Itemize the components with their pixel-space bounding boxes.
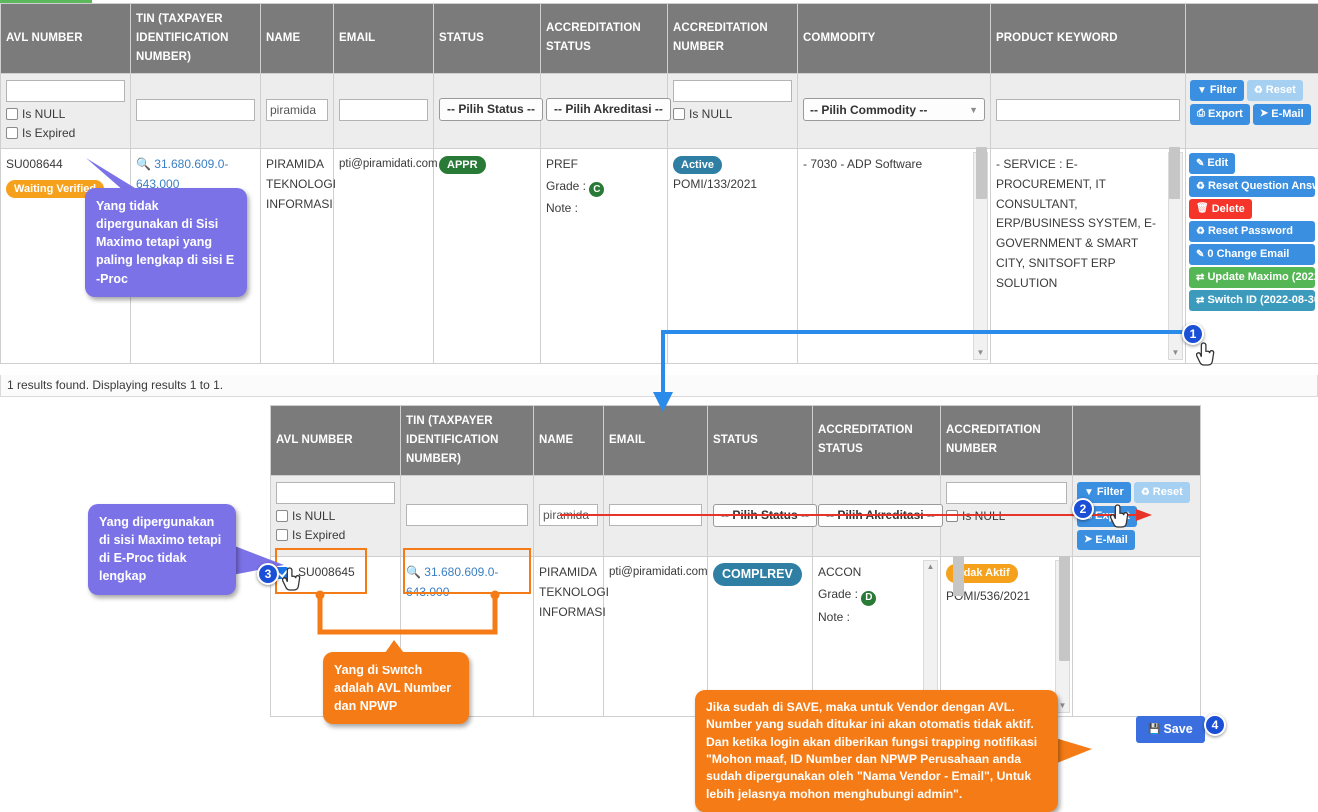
filter-avl-is-expired[interactable]: Is Expired: [6, 126, 125, 140]
filter-avl-is-expired[interactable]: Is Expired: [276, 528, 395, 542]
filter-cell-tin: [401, 475, 534, 557]
highlight-tin: [403, 548, 531, 594]
filter-status-select[interactable]: -- Pilih Status --: [439, 98, 543, 121]
callout-purple-bottom-text: Yang dipergunakan di sisi Maximo tetapi …: [88, 504, 236, 595]
filter-commodity-select[interactable]: -- Pilih Commodity -- ▼: [803, 98, 985, 121]
filter-cell-email: [334, 73, 434, 148]
swap-connector-orange: [310, 590, 545, 642]
mouse-cursor-hand-2: [1108, 503, 1130, 529]
save-button-label: Save: [1163, 721, 1192, 738]
pencil-icon: ✎: [1196, 248, 1204, 262]
filter-avl-is-expired-label: Is Expired: [22, 126, 75, 140]
funnel-icon: ▼: [1197, 84, 1207, 98]
filter-cell-accreditation-status: -- Pilih Akreditasi --: [541, 73, 668, 148]
exchange-icon: ⇄: [1196, 295, 1204, 306]
edit-button-label: Edit: [1207, 156, 1228, 171]
step-marker-2: 2: [1072, 498, 1094, 520]
reset-password-button[interactable]: ♻ Reset Password: [1189, 221, 1315, 242]
filter-avl-is-null[interactable]: Is NULL: [276, 509, 395, 523]
email-button[interactable]: ➤ E-Mail: [1077, 530, 1135, 551]
callout-orange-save: Jika sudah di SAVE, maka untuk Vendor de…: [695, 690, 1058, 812]
filter-accreditation-number-input[interactable]: [673, 80, 792, 102]
checkbox-icon[interactable]: [6, 127, 18, 139]
scrollbar-thumb[interactable]: [1059, 556, 1070, 661]
email-button[interactable]: ➤ E-Mail: [1253, 104, 1311, 125]
col-email[interactable]: EMAIL: [334, 4, 434, 74]
cell-email: pti@piramidati.com: [604, 557, 708, 717]
filter-product-keyword-input[interactable]: [996, 99, 1180, 121]
mouse-cursor-hand-1: [1194, 341, 1216, 367]
filter-avl-number-input[interactable]: [6, 80, 125, 102]
checkbox-icon[interactable]: [673, 108, 685, 120]
refresh-icon: ♻: [1196, 181, 1205, 192]
filter-button-group: ▼ Filter ♻ Reset ⎙ Export ➤ E-Mail: [1190, 80, 1314, 125]
col-accreditation-number[interactable]: ACCREDITATION NUMBER: [668, 4, 798, 74]
filter-cell-avl: Is NULL Is Expired: [271, 475, 401, 557]
callout-orange-save-text: Jika sudah di SAVE, maka untuk Vendor de…: [695, 690, 1058, 812]
update-maximo-button[interactable]: ⇄ Update Maximo (2022-08-26 15:36:57): [1189, 267, 1315, 288]
refresh-icon: ♻: [1196, 225, 1205, 239]
refresh-icon: ♻: [1254, 84, 1263, 98]
reset-button-label: Reset: [1153, 485, 1183, 500]
exchange-icon: ⇄: [1196, 272, 1204, 283]
accreditation-number-value: POMI/133/2021: [673, 177, 757, 191]
note-label: Note :: [818, 608, 918, 628]
cell-email: pti@piramidati.com: [334, 148, 434, 363]
email-button-label: E-Mail: [1271, 107, 1303, 122]
filter-avl-is-null-label: Is NULL: [292, 509, 335, 523]
scrollbar-thumb[interactable]: [953, 556, 964, 596]
reset-question-answer-label: Reset Question Answer: [1208, 180, 1318, 192]
change-email-button[interactable]: ✎ 0 Change Email: [1189, 244, 1315, 265]
connector-arrow-blue: [640, 326, 1210, 416]
switch-id-label: Switch ID (2022-08-30 15:36:57): [1207, 294, 1318, 306]
col-avl-number[interactable]: AVL NUMBER: [271, 406, 401, 476]
change-email-label: 0 Change Email: [1207, 247, 1289, 262]
col-name[interactable]: NAME: [534, 406, 604, 476]
filter-email-input[interactable]: [339, 99, 428, 121]
accreditation-status-code: PREF: [546, 155, 662, 175]
filter-avl-is-null[interactable]: Is NULL: [6, 107, 125, 121]
cell-actions: [1073, 557, 1201, 717]
paper-plane-icon: ➤: [1084, 533, 1092, 547]
filter-avl-is-null-label: Is NULL: [22, 107, 65, 121]
col-status[interactable]: STATUS: [434, 4, 541, 74]
note-label: Note :: [546, 199, 662, 219]
scrollbar-thumb[interactable]: [1169, 147, 1180, 199]
step-marker-3: 3: [257, 563, 279, 585]
filter-accreditation-is-null-label: Is NULL: [689, 107, 732, 121]
grade-label: Grade :: [818, 587, 858, 601]
col-tin[interactable]: TIN (TAXPAYER IDENTIFICATION NUMBER): [131, 4, 261, 74]
filter-cell-buttons: ▼ Filter ♻ Reset ⎙ Export ➤ E-Mail: [1186, 73, 1318, 148]
col-avl-number[interactable]: AVL NUMBER: [1, 4, 131, 74]
funnel-icon: ▼: [1084, 486, 1094, 500]
edit-button[interactable]: ✎ Edit: [1189, 153, 1235, 174]
delete-button[interactable]: 🗑 Delete: [1189, 199, 1252, 220]
product-keyword-value: - SERVICE : E-PROCUREMENT, IT CONSULTANT…: [996, 155, 1163, 294]
reset-question-answer-button[interactable]: ♻ Reset Question Answer: [1189, 176, 1315, 197]
filter-commodity-value: -- Pilih Commodity --: [810, 103, 927, 117]
filter-cell-tin: [131, 73, 261, 148]
step-marker-4: 4: [1204, 714, 1226, 736]
callout-tail-orange-switch: [370, 638, 422, 668]
filter-tin-input[interactable]: [136, 99, 255, 121]
chevron-up-icon[interactable]: ▲: [927, 561, 935, 573]
checkbox-icon[interactable]: [276, 510, 288, 522]
filter-cell-commodity: -- Pilih Commodity -- ▼: [798, 73, 991, 148]
email-button-label: E-Mail: [1095, 533, 1127, 548]
callout-purple-bottom: Yang dipergunakan di sisi Maximo tetapi …: [88, 504, 236, 595]
col-tin[interactable]: TIN (TAXPAYER IDENTIFICATION NUMBER): [401, 406, 534, 476]
filter-avl-is-expired-label: Is Expired: [292, 528, 345, 542]
col-product-keyword[interactable]: PRODUCT KEYWORD: [991, 4, 1186, 74]
table-top-header-row: AVL NUMBER TIN (TAXPAYER IDENTIFICATION …: [1, 4, 1318, 74]
callout-tail-orange-save: [1052, 735, 1098, 773]
col-accreditation-status[interactable]: ACCREDITATION STATUS: [541, 4, 668, 74]
callout-purple-top: Yang tidak dipergunakan di Sisi Maximo t…: [85, 188, 247, 297]
active-badge: Active: [673, 156, 722, 174]
switch-id-button[interactable]: ⇄ Switch ID (2022-08-30 15:36:57): [1189, 290, 1315, 311]
callout-purple-top-text: Yang tidak dipergunakan di Sisi Maximo t…: [85, 188, 247, 297]
top-accent-bar: [0, 0, 92, 3]
paper-plane-icon: ➤: [1260, 107, 1268, 121]
accreditation-status-code: ACCON: [818, 563, 918, 583]
scrollbar-thumb[interactable]: [976, 147, 987, 199]
col-commodity[interactable]: COMMODITY: [798, 4, 991, 74]
filter-cell-product-keyword: [991, 73, 1186, 148]
chevron-down-icon[interactable]: ▼: [1059, 700, 1067, 712]
filter-name-input[interactable]: [266, 99, 328, 121]
reset-button[interactable]: ♻ Reset: [1247, 80, 1303, 101]
filter-button-label: Filter: [1210, 83, 1237, 98]
connector-arrow-red: [560, 505, 1160, 525]
refresh-icon: ♻: [1141, 486, 1150, 500]
grade-label: Grade :: [546, 179, 586, 193]
filter-button-label: Filter: [1097, 485, 1124, 500]
filter-accreditation-status-select[interactable]: -- Pilih Akreditasi --: [546, 98, 671, 121]
commodity-value: - 7030 - ADP Software: [803, 155, 968, 175]
filter-cell-status: -- Pilih Status --: [434, 73, 541, 148]
delete-button-label: Delete: [1212, 202, 1245, 217]
grade-badge: D: [861, 591, 876, 606]
cell-status: APPR: [434, 148, 541, 363]
filter-button[interactable]: ▼ Filter: [1190, 80, 1244, 101]
row-action-group: ✎ Edit ♻ Reset Question Answer 🗑 Delete …: [1189, 153, 1315, 311]
filter-tin-input[interactable]: [406, 504, 528, 526]
reset-password-label: Reset Password: [1208, 224, 1293, 239]
filter-accreditation-is-null[interactable]: Is NULL: [673, 107, 792, 121]
update-maximo-label: Update Maximo (2022-08-26 15:36:57): [1207, 271, 1318, 283]
save-button[interactable]: 💾 Save: [1136, 716, 1205, 743]
filter-cell-name: [261, 73, 334, 148]
col-actions: [1186, 4, 1318, 74]
grade-badge: C: [589, 182, 604, 197]
trash-icon: 🗑: [1196, 202, 1209, 216]
mouse-cursor-hand-3: [280, 566, 302, 592]
export-button-label: Export: [1208, 107, 1243, 122]
reset-button-label: Reset: [1266, 83, 1296, 98]
filter-accreditation-number-input[interactable]: [946, 482, 1067, 504]
col-name[interactable]: NAME: [261, 4, 334, 74]
status-badge: COMPLREV: [713, 563, 802, 585]
checkbox-icon[interactable]: [276, 529, 288, 541]
floppy-disk-icon: 💾: [1148, 723, 1160, 737]
filter-cell-accreditation-number: Is NULL: [668, 73, 798, 148]
chevron-down-icon: ▼: [969, 105, 978, 115]
pencil-icon: ✎: [1196, 157, 1204, 171]
reset-button[interactable]: ♻ Reset: [1134, 482, 1190, 503]
filter-cell-avl: Is NULL Is Expired: [1, 73, 131, 148]
status-badge: APPR: [439, 156, 486, 174]
table-top-filter-row: Is NULL Is Expired -- Pilih Status -- -: [1, 73, 1318, 148]
printer-icon: ⎙: [1197, 107, 1205, 121]
cell-name: PIRAMIDA TEKNOLOGI INFORMASI: [261, 148, 334, 363]
export-button[interactable]: ⎙ Export: [1190, 104, 1250, 125]
checkbox-icon[interactable]: [6, 108, 18, 120]
filter-avl-number-input[interactable]: [276, 482, 395, 504]
